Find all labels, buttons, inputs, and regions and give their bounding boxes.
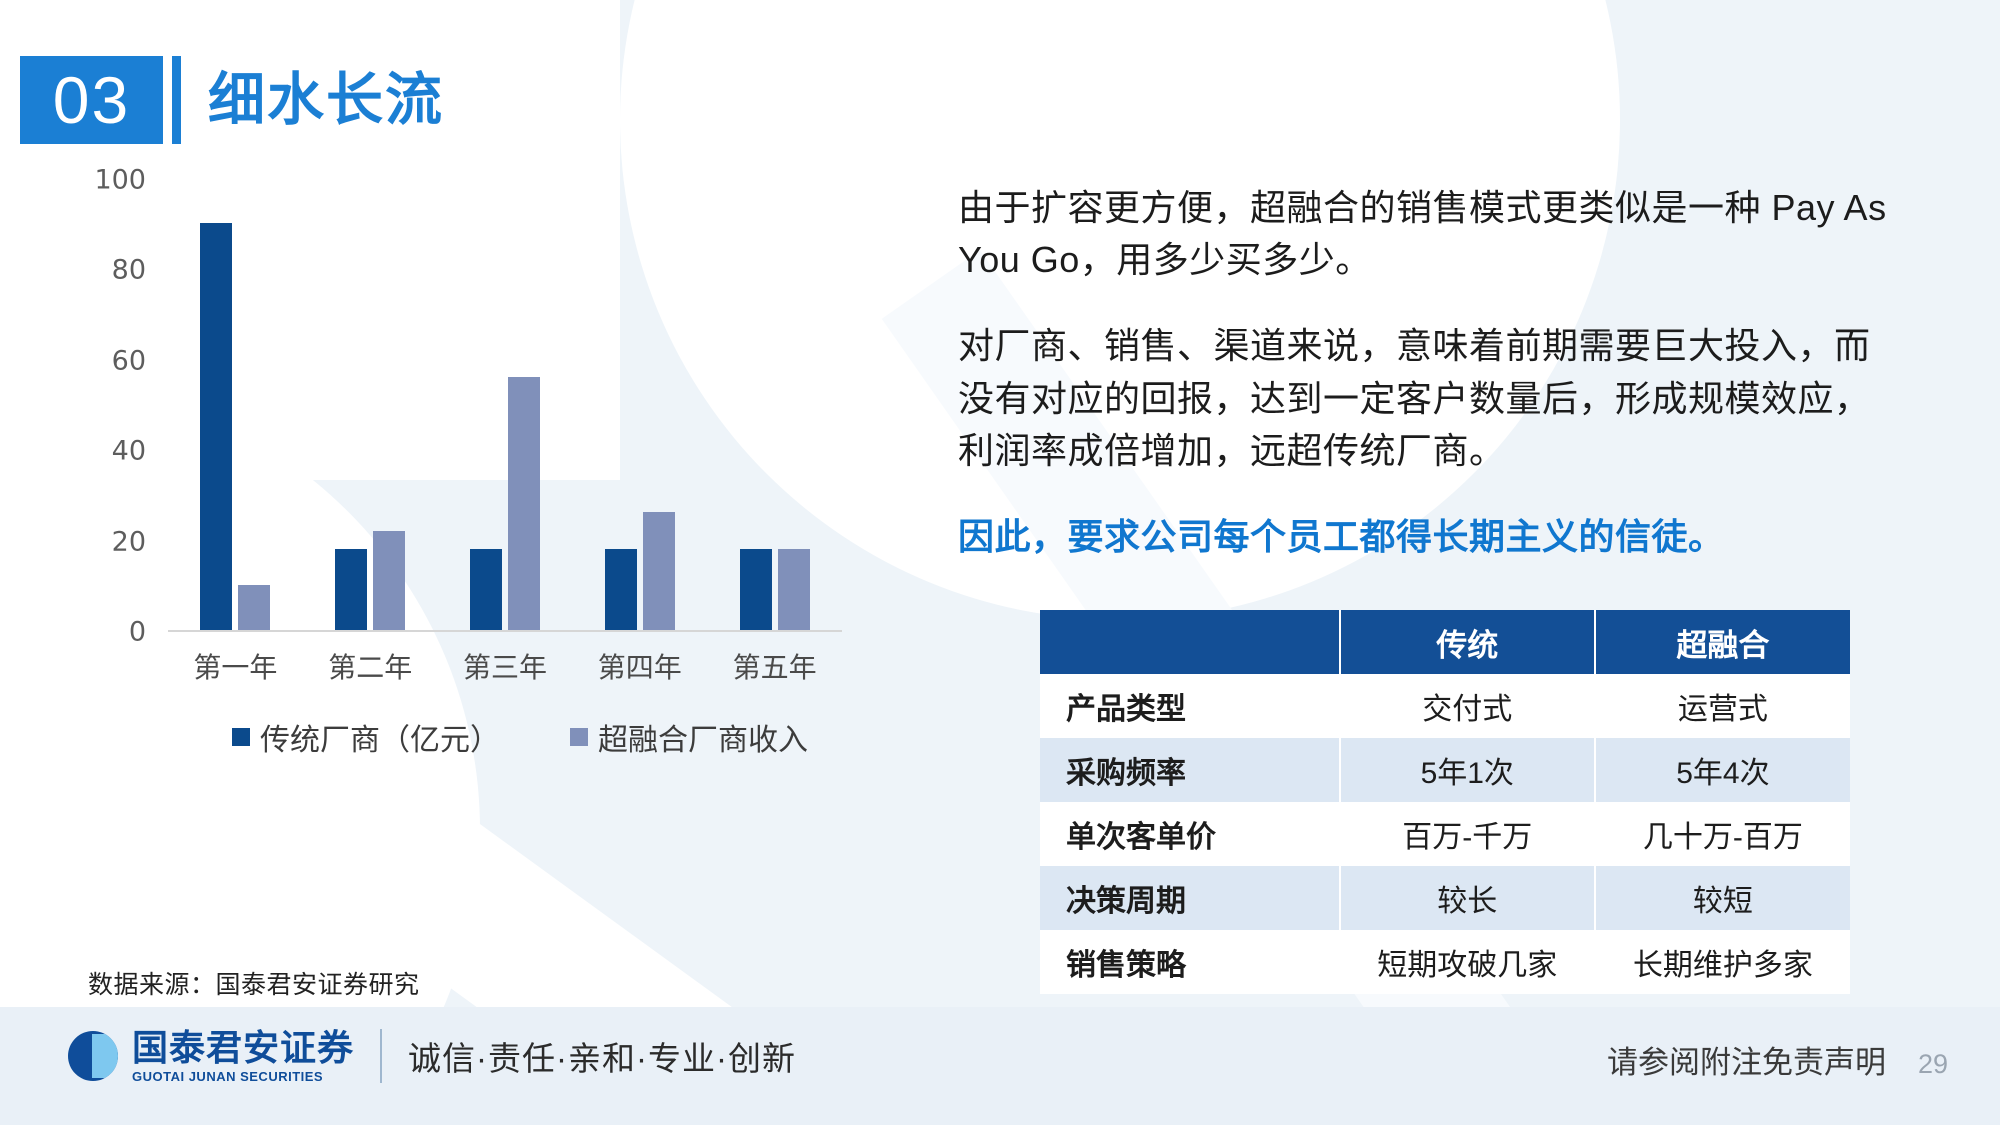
legend-item[interactable]: 传统厂商（亿元）	[232, 715, 500, 759]
cell-traditional: 百万-千万	[1340, 802, 1595, 866]
legend-swatch-icon	[232, 728, 250, 746]
company-logo-icon	[68, 1031, 118, 1081]
paragraph-2: 对厂商、销售、渠道来说，意味着前期需要巨大投入，而没有对应的回报，达到一定客户数…	[958, 320, 1888, 477]
brand-slogan: 诚信·责任·亲和·专业·创新	[408, 1032, 796, 1080]
bar-traditional	[740, 549, 772, 630]
table-row: 销售策略短期攻破几家长期维护多家	[1040, 930, 1850, 994]
cell-hci: 长期维护多家	[1595, 930, 1850, 994]
legend-label: 传统厂商（亿元）	[260, 715, 500, 759]
footer-right: 请参阅附注免责声明 29	[1607, 1037, 1948, 1082]
paragraph-1: 由于扩容更方便，超融合的销售模式更类似是一种 Pay As You Go，用多少…	[958, 182, 1888, 286]
brand-name-cn: 国泰君安证券	[132, 1030, 354, 1066]
bar-group	[605, 180, 675, 630]
chart-legend: 传统厂商（亿元）超融合厂商收入	[232, 715, 808, 759]
slide-footer: 国泰君安证券 GUOTAI JUNAN SECURITIES 诚信·责任·亲和·…	[0, 1007, 2000, 1125]
brand-divider	[380, 1029, 382, 1083]
y-axis-tick: 20	[112, 526, 146, 557]
section-number-box: 03	[20, 56, 163, 144]
table-column-header: 超融合	[1595, 610, 1850, 674]
row-label: 采购频率	[1040, 738, 1340, 802]
bar-group	[200, 180, 270, 630]
y-axis-tick: 80	[112, 255, 146, 286]
comparison-table-body: 产品类型交付式运营式采购频率5年1次5年4次单次客单价百万-千万几十万-百万决策…	[1040, 674, 1850, 994]
table-column-header: 传统	[1340, 610, 1595, 674]
table-row: 单次客单价百万-千万几十万-百万	[1040, 802, 1850, 866]
brand-lockup: 国泰君安证券 GUOTAI JUNAN SECURITIES 诚信·责任·亲和·…	[68, 1029, 796, 1083]
bar-hci	[508, 377, 540, 630]
y-axis-tick: 40	[112, 436, 146, 467]
chart-y-axis: 020406080100	[82, 180, 154, 700]
brand-words: 国泰君安证券 GUOTAI JUNAN SECURITIES	[132, 1030, 354, 1083]
section-number: 03	[53, 67, 130, 133]
table-row: 产品类型交付式运营式	[1040, 674, 1850, 738]
chart-source-note: 数据来源：国泰君安证券研究	[88, 965, 420, 1001]
bar-traditional	[335, 549, 367, 630]
x-axis-label: 第二年	[328, 646, 412, 686]
slide-header: 03 细水长流	[20, 56, 444, 144]
header-rule	[172, 56, 181, 144]
bar-traditional	[470, 549, 502, 630]
bar-hci	[643, 512, 675, 630]
highlight-statement: 因此，要求公司每个员工都得长期主义的信徒。	[958, 511, 1888, 563]
y-axis-tick: 60	[112, 345, 146, 376]
chart-x-axis: 第一年第二年第三年第四年第五年	[168, 646, 842, 686]
cell-traditional: 5年1次	[1340, 738, 1595, 802]
row-label: 决策周期	[1040, 866, 1340, 930]
row-label: 产品类型	[1040, 674, 1340, 738]
slide: 03 细水长流 020406080100 第一年第二年第三年第四年第五年 传统厂…	[0, 0, 2000, 1125]
legend-item[interactable]: 超融合厂商收入	[570, 715, 808, 759]
table-row: 决策周期较长较短	[1040, 866, 1850, 930]
cell-hci: 较短	[1595, 866, 1850, 930]
brand-name-en: GUOTAI JUNAN SECURITIES	[132, 1070, 354, 1083]
comparison-table: 传统超融合 产品类型交付式运营式采购频率5年1次5年4次单次客单价百万-千万几十…	[1040, 610, 1850, 994]
cell-hci: 几十万-百万	[1595, 802, 1850, 866]
cell-traditional: 短期攻破几家	[1340, 930, 1595, 994]
bar-group	[470, 180, 540, 630]
bar-hci	[373, 531, 405, 630]
bar-group	[740, 180, 810, 630]
right-text-column: 由于扩容更方便，超融合的销售模式更类似是一种 Pay As You Go，用多少…	[958, 182, 1888, 563]
x-axis-label: 第四年	[598, 646, 682, 686]
cell-hci: 运营式	[1595, 674, 1850, 738]
table-row: 采购频率5年1次5年4次	[1040, 738, 1850, 802]
bar-traditional	[200, 223, 232, 630]
bar-group	[335, 180, 405, 630]
cell-traditional: 交付式	[1340, 674, 1595, 738]
disclaimer-note: 请参阅附注免责声明	[1607, 1037, 1886, 1082]
comparison-table-head: 传统超融合	[1040, 610, 1850, 674]
x-axis-label: 第三年	[463, 646, 547, 686]
row-label: 销售策略	[1040, 930, 1340, 994]
bar-traditional	[605, 549, 637, 630]
x-axis-label: 第一年	[193, 646, 277, 686]
page-number: 29	[1918, 1049, 1948, 1080]
table-column-header	[1040, 610, 1340, 674]
row-label: 单次客单价	[1040, 802, 1340, 866]
y-axis-tick: 100	[94, 165, 146, 196]
page-title: 细水长流	[208, 56, 444, 144]
legend-label: 超融合厂商收入	[598, 715, 808, 759]
cell-hci: 5年4次	[1595, 738, 1850, 802]
y-axis-tick: 0	[129, 617, 146, 648]
legend-swatch-icon	[570, 728, 588, 746]
bar-hci	[238, 585, 270, 630]
table-header-row: 传统超融合	[1040, 610, 1850, 674]
bar-hci	[778, 549, 810, 630]
chart-plot-area	[168, 180, 842, 632]
cell-traditional: 较长	[1340, 866, 1595, 930]
x-axis-label: 第五年	[733, 646, 817, 686]
bar-chart: 020406080100 第一年第二年第三年第四年第五年 传统厂商（亿元）超融合…	[82, 180, 842, 800]
